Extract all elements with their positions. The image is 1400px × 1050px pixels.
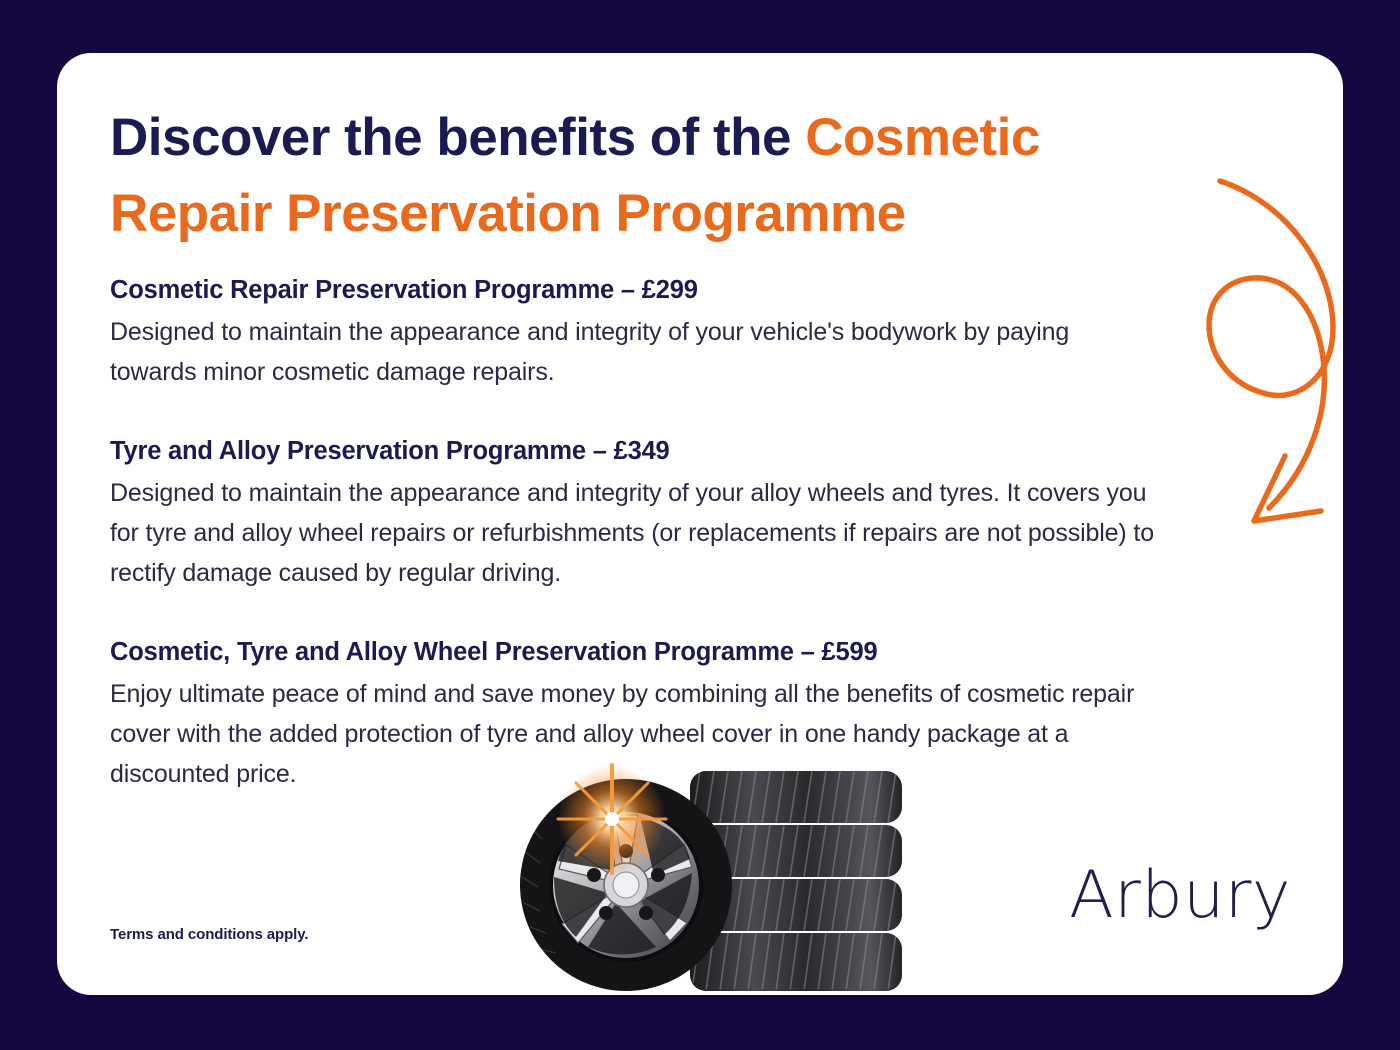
programme-title: Tyre and Alloy Preservation Programme – … <box>110 436 1162 467</box>
promo-card: Discover the benefits of the Cosmetic Re… <box>57 53 1343 995</box>
headline-line1-accent: Cosmetic <box>805 108 1040 167</box>
promo-banner: Discover the benefits of the Cosmetic Re… <box>0 0 1400 1050</box>
headline-line1-navy: Discover the benefits of the <box>110 108 805 167</box>
programme-description: Designed to maintain the appearance and … <box>110 473 1162 593</box>
programme-title: Cosmetic, Tyre and Alloy Wheel Preservat… <box>110 637 1162 668</box>
programme-description: Designed to maintain the appearance and … <box>110 312 1162 392</box>
page-title: Discover the benefits of the Cosmetic Re… <box>110 100 1170 252</box>
programme-title: Cosmetic Repair Preservation Programme –… <box>110 275 1162 306</box>
programme-item-cosmetic-repair: Cosmetic Repair Preservation Programme –… <box>110 275 1162 392</box>
brand-logo-arbury: Arbury <box>1069 859 1291 933</box>
tyre-stack-image <box>504 751 914 995</box>
programme-item-tyre-alloy: Tyre and Alloy Preservation Programme – … <box>110 436 1162 593</box>
headline-line2-accent: Repair Preservation Programme <box>110 184 906 243</box>
programme-list: Cosmetic Repair Preservation Programme –… <box>110 275 1162 794</box>
sparkle-glint-icon <box>558 765 666 873</box>
swirl-arrow-icon <box>1147 108 1343 538</box>
terms-and-conditions: Terms and conditions apply. <box>110 925 308 945</box>
